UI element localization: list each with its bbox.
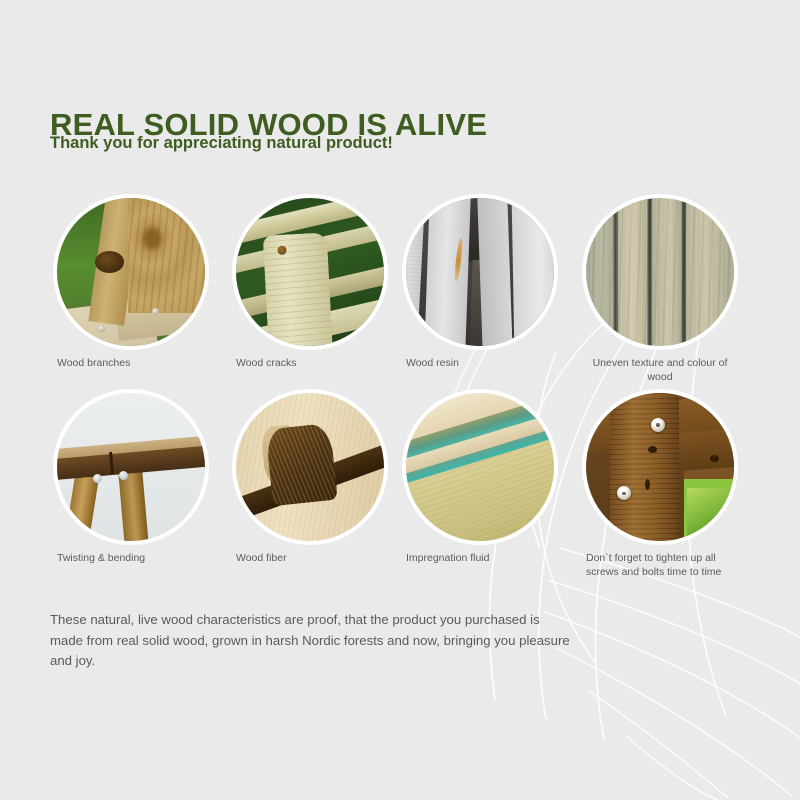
page-subtitle: Thank you for appreciating natural produ… [50,134,393,153]
tile-caption: Wood fiber [236,552,384,566]
photo-uneven-texture [586,198,734,346]
tile-caption: Wood resin [406,357,554,371]
tile-caption: Impregnation fluid [406,552,554,566]
photo-wood-fiber [236,393,384,541]
circle-wrap [236,198,384,346]
photo-impregnation-fluid [406,393,554,541]
photo-wood-resin [406,198,554,346]
circle-wrap [586,393,734,541]
tile-caption: Uneven texture and colour of wood [586,357,734,385]
photo-twisting-bending [57,393,205,541]
tile-wood-fiber: Wood fiber [236,393,386,566]
tile-wood-cracks: Wood cracks [236,198,386,371]
tile-twisting-bending: Twisting & bending [57,393,207,566]
tile-impregnation-fluid: Impregnation fluid [406,393,556,566]
tile-caption: Wood branches [57,357,205,371]
tile-caption: Don`t forget to tighten up all screws an… [586,552,734,580]
circle-wrap [406,393,554,541]
tile-wood-resin: Wood resin [406,198,556,371]
photo-tighten-screws [586,393,734,541]
photo-wood-cracks [236,198,384,346]
tile-wood-branches: Wood branches [57,198,207,371]
tile-tighten-screws: Don`t forget to tighten up all screws an… [586,393,736,580]
poster-root: REAL SOLID WOOD IS ALIVE Thank you for a… [0,0,800,800]
circle-wrap [57,393,205,541]
circle-wrap [586,198,734,346]
tile-caption: Wood cracks [236,357,384,371]
footer-paragraph: These natural, live wood characteristics… [50,610,570,671]
circle-wrap [57,198,205,346]
tile-uneven-texture: Uneven texture and colour of wood [586,198,736,385]
circle-wrap [236,393,384,541]
circle-wrap [406,198,554,346]
photo-wood-branches [57,198,205,346]
tile-caption: Twisting & bending [57,552,205,566]
